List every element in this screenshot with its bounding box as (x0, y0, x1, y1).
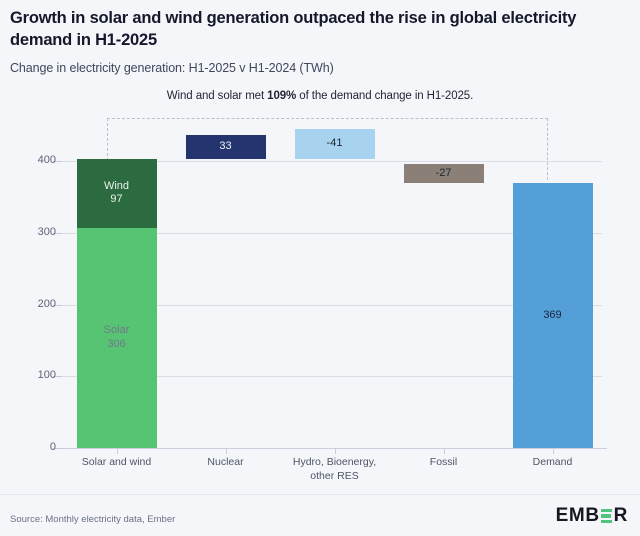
x-tick-mark-solar-and-wind (117, 449, 118, 454)
x-label-line: Demand (500, 456, 605, 470)
y-tick-label-400: 400 (10, 154, 56, 166)
annotation-prefix: Wind and solar met (167, 90, 267, 102)
x-label-line: Hydro, Bioenergy, (282, 456, 387, 470)
x-axis-label-hydro-bioenergy-other-res: Hydro, Bioenergy,other RES (282, 456, 387, 483)
bar-solar[interactable]: Solar306 (77, 228, 157, 448)
bar-value-demand: 369 (513, 309, 593, 323)
x-label-line: Nuclear (173, 456, 278, 470)
source-note: Source: Monthly electricity data, Ember (10, 514, 175, 525)
x-axis-label-solar-and-wind: Solar and wind (64, 456, 169, 470)
annotation-highlight: 109% (267, 90, 296, 102)
bar-fossil[interactable]: -27 (404, 164, 484, 183)
logo-text-end: R (614, 505, 628, 527)
bar-nuclear[interactable]: 33 (186, 135, 266, 159)
y-tick-label-300: 300 (10, 226, 56, 238)
bar-value-nuclear: 33 (186, 140, 266, 154)
bracket-right-arm (547, 118, 548, 180)
bar-segment-name: Wind (77, 180, 157, 194)
y-tick-label-200: 200 (10, 298, 56, 310)
x-axis-label-demand: Demand (500, 456, 605, 470)
bar-wind[interactable]: Wind97 (77, 159, 157, 229)
x-label-line: Fossil (391, 456, 496, 470)
bar-label-solar: Solar306 (77, 324, 157, 352)
bar-segment-value: 97 (77, 193, 157, 207)
y-tick-label-0: 0 (10, 441, 56, 453)
x-axis-label-fossil: Fossil (391, 456, 496, 470)
bar-hydro-bioenergy-other-res[interactable]: -41 (295, 129, 375, 158)
x-label-line: other RES (282, 470, 387, 484)
bar-value-hydro-bioenergy-other-res: -41 (295, 137, 375, 151)
chart-plot-area: Wind and solar met 109% of the demand ch… (0, 0, 640, 500)
bar-label-wind: Wind97 (77, 180, 157, 208)
annotation-label: Wind and solar met 109% of the demand ch… (0, 90, 640, 102)
footer-divider (0, 494, 640, 495)
bar-value-fossil: -27 (404, 167, 484, 181)
x-tick-mark-nuclear (226, 449, 227, 454)
logo-text-start: EMB (556, 505, 600, 527)
x-tick-mark-fossil (444, 449, 445, 454)
ember-logo: EMB R (556, 505, 628, 527)
bracket-left-arm (107, 118, 108, 161)
bar-demand[interactable]: 369 (513, 183, 593, 448)
bracket-top-line (107, 118, 548, 119)
y-tick-label-100: 100 (10, 369, 56, 381)
logo-e-icon (601, 509, 612, 524)
x-tick-mark-demand (553, 449, 554, 454)
x-axis-label-nuclear: Nuclear (173, 456, 278, 470)
annotation-suffix: of the demand change in H1-2025. (296, 90, 473, 102)
bar-segment-name: Solar (77, 324, 157, 338)
x-tick-mark-hydro-bioenergy-other-res (335, 449, 336, 454)
bar-segment-value: 306 (77, 338, 157, 352)
x-label-line: Solar and wind (64, 456, 169, 470)
